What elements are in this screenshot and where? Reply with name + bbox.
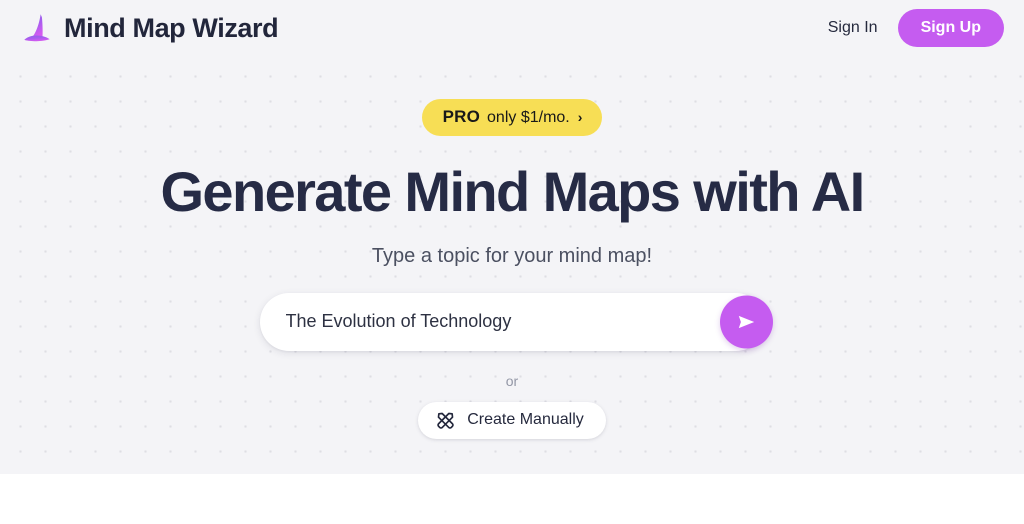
pro-price-label: only $1/mo.: [487, 110, 570, 126]
page-root: Mind Map Wizard Sign In Sign Up PRO only…: [0, 0, 1024, 524]
generate-submit-button[interactable]: [720, 295, 773, 348]
topic-search-container: [260, 293, 765, 351]
send-icon: [736, 311, 757, 332]
sign-in-link[interactable]: Sign In: [828, 19, 878, 37]
page-title: Generate Mind Maps with AI: [160, 163, 863, 222]
topic-search-box: [260, 293, 765, 351]
site-header: Mind Map Wizard Sign In Sign Up: [0, 0, 1024, 56]
pro-upgrade-badge[interactable]: PRO only $1/mo. ›: [422, 99, 603, 136]
sign-up-button[interactable]: Sign Up: [898, 9, 1004, 47]
create-manually-label: Create Manually: [467, 411, 584, 429]
pro-tag-label: PRO: [443, 108, 480, 125]
create-manually-button[interactable]: Create Manually: [418, 402, 606, 439]
page-subtitle: Type a topic for your mind map!: [372, 245, 652, 268]
divider-or-label: or: [506, 373, 518, 389]
page-bottom-strip: [0, 474, 1024, 524]
wizard-hat-icon: [20, 11, 54, 45]
topic-search-input[interactable]: [260, 293, 765, 351]
brand-logo[interactable]: Mind Map Wizard: [20, 11, 278, 45]
hero-content: PRO only $1/mo. › Generate Mind Maps wit…: [0, 56, 1024, 474]
chevron-right-icon: ›: [578, 110, 583, 124]
crossed-pencils-icon: [435, 410, 456, 431]
brand-name: Mind Map Wizard: [64, 13, 278, 44]
header-actions: Sign In Sign Up: [828, 9, 1004, 47]
